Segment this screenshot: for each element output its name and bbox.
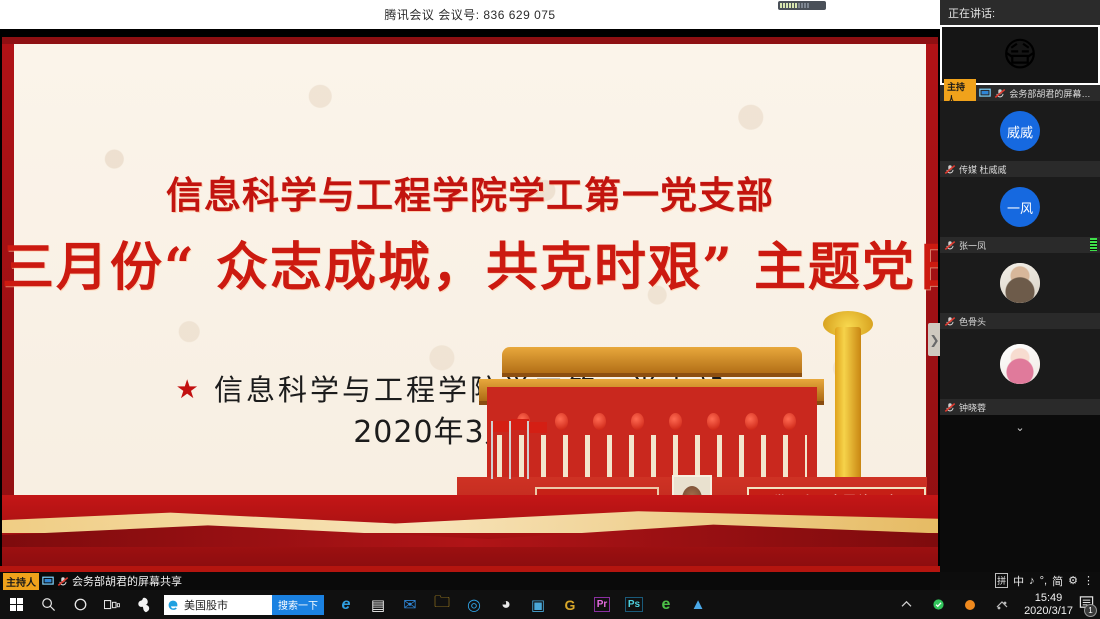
participant-name: 色骨头 (959, 315, 986, 328)
mountain-app-icon-glyph: ▲ (691, 596, 706, 613)
participant-name: 张一凤 (959, 239, 986, 252)
slide-title-main: 信息科学与工程学院学工第一党支部 (2, 165, 938, 219)
lantern-icon (745, 413, 758, 430)
share-status-banner: 主持人 会务部胡君的屏幕共享 (0, 572, 940, 590)
premiere-icon[interactable]: Pr (586, 590, 618, 619)
browser-blue-icon-glyph: ◎ (467, 595, 481, 615)
edge-icon[interactable]: e (330, 590, 362, 619)
screen-share-icon (42, 576, 54, 587)
chevron-down-icon[interactable]: ⌄ (940, 415, 1100, 435)
photoshop-icon[interactable]: Ps (618, 590, 650, 619)
gate-upper-roof (502, 347, 802, 373)
sogou-icon[interactable] (128, 590, 160, 619)
search-icon[interactable] (32, 590, 64, 619)
participants-panel[interactable]: 😷主持人会务部胡君的屏幕共...威威传媒 杜威威一风张一凤色骨头钟晓蓉⌄ (940, 25, 1100, 572)
notification-center-icon[interactable]: 1 (1079, 595, 1094, 615)
show-hidden-icons[interactable] (890, 590, 922, 619)
mic-muted-icon (944, 240, 956, 251)
gold-g-icon[interactable]: G (554, 590, 586, 619)
participant-name: 会务部胡君的屏幕共... (1009, 87, 1096, 100)
participant-tile[interactable]: 😷 (940, 25, 1100, 85)
host-badge: 主持人 (3, 573, 39, 590)
steam-icon[interactable]: ◕ (490, 590, 522, 619)
browser-blue-icon[interactable]: ◎ (458, 590, 490, 619)
search-input-value[interactable]: 美国股市 (182, 597, 272, 613)
steam-icon-glyph: ◕ (501, 596, 511, 614)
slide-bottom-ribbon (2, 495, 938, 567)
screen-root: 腾讯会议 会议号: 836 629 075 正在讲话: 信息科学与工程学院学工第… (0, 0, 1100, 619)
participant-tile[interactable]: 威威 (940, 101, 1100, 161)
gold-g-icon-glyph: G (565, 597, 576, 613)
presentation-slide: 信息科学与工程学院学工第一党支部 三月份“ 众志成城，共克时艰” 主题党日 ★ … (2, 37, 938, 567)
ime-item[interactable]: 中 (1013, 573, 1024, 589)
ime-item[interactable]: ♪ (1029, 575, 1035, 587)
slide-title-sub: 三月份“ 众志成城，共克时艰” 主题党日 (2, 225, 938, 300)
ime-item[interactable]: °, (1040, 575, 1047, 587)
mini-level-widget[interactable] (778, 1, 826, 10)
participant-namebar: 钟晓蓉 (940, 399, 1100, 415)
mic-muted-icon (944, 402, 956, 413)
participant-namebar: 主持人会务部胡君的屏幕共... (940, 85, 1100, 101)
notification-badge: 1 (1084, 604, 1097, 617)
store-icon-glyph: ▤ (371, 596, 385, 614)
avatar (1000, 344, 1040, 384)
star-left-icon: ★ (175, 375, 201, 405)
clock-date: 2020/3/17 (1024, 605, 1073, 618)
file-explorer-icon-glyph: 🗀 (434, 591, 450, 618)
volume-meter (1090, 238, 1097, 251)
lantern-icon (593, 413, 606, 430)
clock[interactable]: 15:49 2020/3/17 (1024, 592, 1073, 618)
start-button[interactable] (0, 590, 32, 619)
photoshop-icon-glyph: Ps (625, 597, 643, 612)
share-status-text: 会务部胡君的屏幕共享 (72, 573, 182, 589)
participant-namebar: 传媒 杜威威 (940, 161, 1100, 177)
file-explorer-icon[interactable]: 🗀 (426, 590, 458, 619)
green-e-icon-glyph: e (662, 596, 671, 614)
system-tray[interactable]: 15:49 2020/3/17 1 (890, 590, 1100, 619)
edge-icon-glyph: e (342, 596, 351, 614)
search-submit-button[interactable]: 搜索一下 (272, 595, 324, 615)
ime-item[interactable]: ⚙ (1068, 574, 1078, 587)
slide-left-stripe (2, 44, 14, 567)
mic-muted-icon (57, 576, 69, 587)
avatar: 😷 (1002, 38, 1037, 72)
search-input[interactable]: 美国股市 搜索一下 (164, 595, 324, 615)
participant-namebar: 张一凤 (940, 237, 1100, 253)
participant-tile[interactable] (940, 329, 1100, 399)
participant-namebar: 色骨头 (940, 313, 1100, 329)
shared-screen-area[interactable]: 信息科学与工程学院学工第一党支部 三月份“ 众志成城，共克时艰” 主题党日 ★ … (0, 29, 940, 572)
orange-tray-icon[interactable] (954, 590, 986, 619)
lantern-icon (707, 413, 720, 430)
cortana-icon[interactable] (64, 590, 96, 619)
taskbar-app-group[interactable]: e▤✉🗀◎◕▣GPrPse▲ (330, 590, 714, 619)
ime-tray[interactable]: 拼中♪°,简⚙⋮ (991, 572, 1098, 589)
security-icon[interactable] (922, 590, 954, 619)
lantern-icon (783, 413, 796, 430)
green-e-icon[interactable]: e (650, 590, 682, 619)
premiere-icon-glyph: Pr (594, 597, 611, 612)
network-icon[interactable] (986, 590, 1018, 619)
store-icon[interactable]: ▤ (362, 590, 394, 619)
mic-muted-icon (944, 164, 956, 175)
clock-time: 15:49 (1024, 592, 1073, 605)
avatar (1000, 263, 1040, 303)
ime-item[interactable]: 拼 (995, 573, 1008, 588)
ie-icon (164, 598, 182, 612)
participant-name: 传媒 杜威威 (959, 163, 1007, 176)
ime-item[interactable]: 简 (1052, 573, 1063, 589)
slide-right-stripe (926, 44, 938, 567)
mic-muted-icon (944, 316, 956, 327)
meeting-title: 腾讯会议 会议号: 836 629 075 (384, 6, 555, 23)
participant-name: 钟晓蓉 (959, 401, 986, 414)
task-view-icon[interactable] (96, 590, 128, 619)
participant-tile[interactable]: 一风 (940, 177, 1100, 237)
mail-icon[interactable]: ✉ (394, 590, 426, 619)
slide-top-band (2, 37, 938, 44)
avatar: 威威 (1000, 111, 1040, 151)
screen-share-icon (979, 88, 991, 99)
avatar: 一风 (1000, 187, 1040, 227)
ime-item[interactable]: ⋮ (1083, 574, 1094, 587)
mountain-app-icon[interactable]: ▲ (682, 590, 714, 619)
mail-icon-glyph: ✉ (403, 595, 416, 615)
lantern-icon (631, 413, 644, 430)
lantern-icon (669, 413, 682, 430)
speaking-bar: 正在讲话: (940, 0, 1100, 25)
mic-muted-icon (994, 88, 1006, 99)
media-app-icon-glyph: ▣ (531, 596, 545, 614)
flag-group (487, 419, 557, 479)
speaking-label: 正在讲话: (948, 5, 995, 21)
media-app-icon[interactable]: ▣ (522, 590, 554, 619)
participant-tile[interactable] (940, 253, 1100, 313)
